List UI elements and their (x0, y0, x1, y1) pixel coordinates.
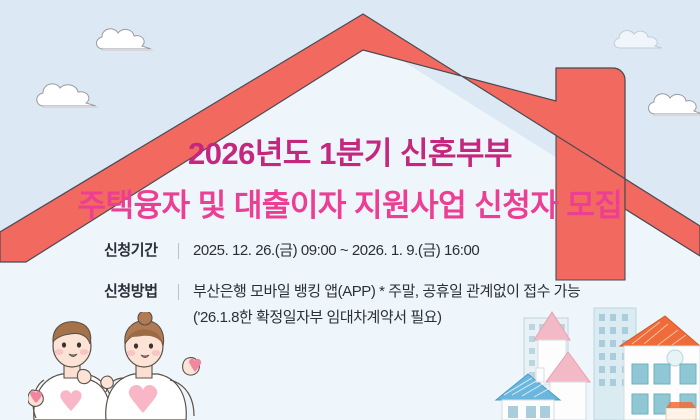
cityscape-houses-icon (490, 300, 700, 420)
couple-finger-heart-icon (28, 312, 208, 420)
promotional-banner: 2026년도 1분기 신혼부부 주택융자 및 대출이자 지원사업 신청자 모집 … (0, 0, 700, 420)
